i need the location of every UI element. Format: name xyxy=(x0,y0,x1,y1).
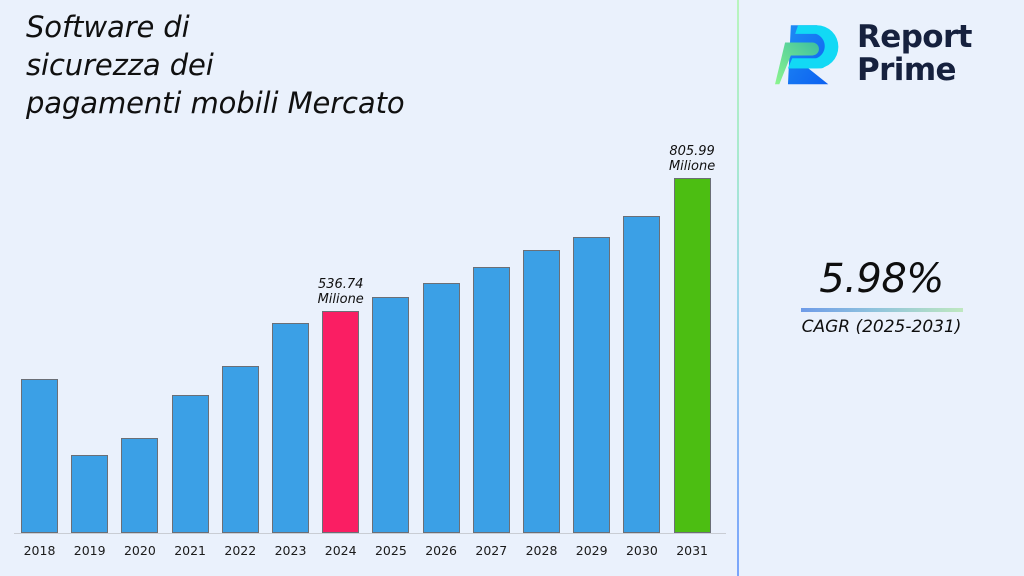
brand-name-line1: Report xyxy=(857,21,972,54)
bar-rect-2029[interactable] xyxy=(573,237,610,533)
x-axis-line xyxy=(14,533,726,534)
bar-rect-2024[interactable] xyxy=(322,311,359,533)
bar-rect-2019[interactable] xyxy=(71,455,108,533)
bar-rect-2030[interactable] xyxy=(623,216,660,533)
bar-rect-2020[interactable] xyxy=(121,438,158,533)
cagr-caption: CAGR (2025-2031) xyxy=(739,316,1024,338)
chart-panel: Software di sicurezza dei pagamenti mobi… xyxy=(0,0,738,576)
bar-chart-plot-area: 536.74 Milione805.99 Milione 20182019202… xyxy=(0,0,738,576)
bar-rect-2026[interactable] xyxy=(423,283,460,533)
cagr-block: 5.98% CAGR (2025-2031) xyxy=(739,255,1024,338)
infographic-root: Software di sicurezza dei pagamenti mobi… xyxy=(0,0,1024,576)
report-prime-r-logo-icon xyxy=(775,18,847,90)
bar-rect-2025[interactable] xyxy=(372,297,409,533)
bar-rect-2022[interactable] xyxy=(222,366,259,533)
brand-logo[interactable]: Report Prime xyxy=(775,12,1020,96)
bar-rect-2018[interactable] xyxy=(21,379,58,533)
bar-rect-2027[interactable] xyxy=(473,267,510,533)
bar-rect-2028[interactable] xyxy=(523,250,560,533)
brand-name-line2: Prime xyxy=(857,54,972,87)
bar-rect-2023[interactable] xyxy=(272,323,309,533)
brand-wordmark: Report Prime xyxy=(857,21,972,87)
cagr-value: 5.98% xyxy=(739,255,1024,303)
bar-value-label-2031: 805.99 Milione xyxy=(642,144,743,174)
brand-panel: Report Prime 5.98% CAGR (2025-2031) xyxy=(739,0,1024,576)
bar-rect-2031[interactable] xyxy=(674,178,711,533)
cagr-divider xyxy=(801,308,963,312)
x-tick-2031: 2031 xyxy=(662,543,723,558)
bar-rect-2021[interactable] xyxy=(172,395,209,533)
